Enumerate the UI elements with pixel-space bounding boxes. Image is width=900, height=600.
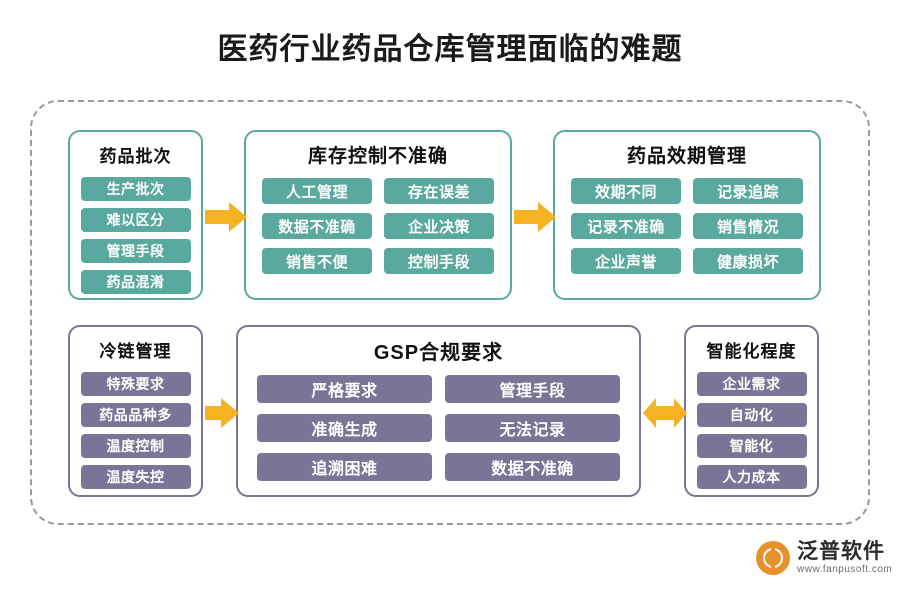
logo-url: www.fanpusoft.com: [797, 565, 892, 576]
group-gsp-compliance: GSP合规要求 严格要求 管理手段 准确生成 无法记录 追溯困难 数据不准确: [236, 325, 641, 497]
group-cold-chain: 冷链管理 特殊要求 药品品种多 温度控制 温度失控: [68, 325, 203, 497]
chip-item: 企业决策: [384, 213, 494, 239]
chip-item: 人工管理: [262, 178, 372, 204]
chip-item: 难以区分: [81, 208, 191, 232]
chip-item: 药品品种多: [81, 403, 191, 427]
logo-globe-icon: [756, 541, 790, 575]
chip-item: 记录追踪: [693, 178, 803, 204]
chip-item: 药品混淆: [81, 270, 191, 294]
chip-item: 生产批次: [81, 177, 191, 201]
group-inventory-control-title: 库存控制不准确: [246, 141, 510, 168]
page-title: 医药行业药品仓库管理面临的难题: [0, 24, 900, 68]
arrow-right-icon: [205, 202, 247, 232]
arrow-right-icon: [514, 202, 556, 232]
group-batch: 药品批次 生产批次 难以区分 管理手段 药品混淆: [68, 130, 203, 300]
chip-item: 控制手段: [384, 248, 494, 274]
chip-item: 销售不便: [262, 248, 372, 274]
chip-item: 销售情况: [693, 213, 803, 239]
chip-item: 追溯困难: [257, 453, 432, 481]
chip-item: 管理手段: [81, 239, 191, 263]
chip-item: 企业声誉: [571, 248, 681, 274]
group-inventory-control-items: 人工管理 存在误差 数据不准确 企业决策 销售不便 控制手段: [246, 178, 510, 274]
chip-item: 数据不准确: [445, 453, 620, 481]
group-batch-title: 药品批次: [70, 142, 201, 167]
group-inventory-control: 库存控制不准确 人工管理 存在误差 数据不准确 企业决策 销售不便 控制手段: [244, 130, 512, 300]
group-batch-items: 生产批次 难以区分 管理手段 药品混淆: [70, 177, 201, 294]
group-cold-chain-title: 冷链管理: [70, 337, 201, 362]
group-intelligence-level-title: 智能化程度: [686, 337, 817, 362]
chip-item: 效期不同: [571, 178, 681, 204]
chip-item: 自动化: [697, 403, 807, 427]
chip-item: 健康损坏: [693, 248, 803, 274]
chip-item: 管理手段: [445, 375, 620, 403]
chip-item: 准确生成: [257, 414, 432, 442]
group-cold-chain-items: 特殊要求 药品品种多 温度控制 温度失控: [70, 372, 201, 489]
chip-item: 存在误差: [384, 178, 494, 204]
arrow-right-icon: [205, 398, 239, 428]
brand-logo: 泛普软件 www.fanpusoft.com: [756, 541, 892, 576]
group-intelligence-level: 智能化程度 企业需求 自动化 智能化 人力成本: [684, 325, 819, 497]
group-expiry-management-items: 效期不同 记录追踪 记录不准确 销售情况 企业声誉 健康损坏: [555, 178, 819, 274]
group-intelligence-level-items: 企业需求 自动化 智能化 人力成本: [686, 372, 817, 489]
logo-text: 泛普软件 www.fanpusoft.com: [797, 541, 892, 576]
chip-item: 温度失控: [81, 465, 191, 489]
chip-item: 智能化: [697, 434, 807, 458]
group-expiry-management: 药品效期管理 效期不同 记录追踪 记录不准确 销售情况 企业声誉 健康损坏: [553, 130, 821, 300]
chip-item: 无法记录: [445, 414, 620, 442]
chip-item: 温度控制: [81, 434, 191, 458]
logo-name: 泛普软件: [797, 541, 892, 563]
chip-item: 严格要求: [257, 375, 432, 403]
chip-item: 人力成本: [697, 465, 807, 489]
chip-item: 记录不准确: [571, 213, 681, 239]
chip-item: 数据不准确: [262, 213, 372, 239]
group-expiry-management-title: 药品效期管理: [555, 141, 819, 168]
chip-item: 特殊要求: [81, 372, 191, 396]
arrow-left-right-icon: [643, 398, 687, 428]
group-gsp-compliance-items: 严格要求 管理手段 准确生成 无法记录 追溯困难 数据不准确: [238, 375, 639, 481]
chip-item: 企业需求: [697, 372, 807, 396]
group-gsp-compliance-title: GSP合规要求: [238, 336, 639, 365]
